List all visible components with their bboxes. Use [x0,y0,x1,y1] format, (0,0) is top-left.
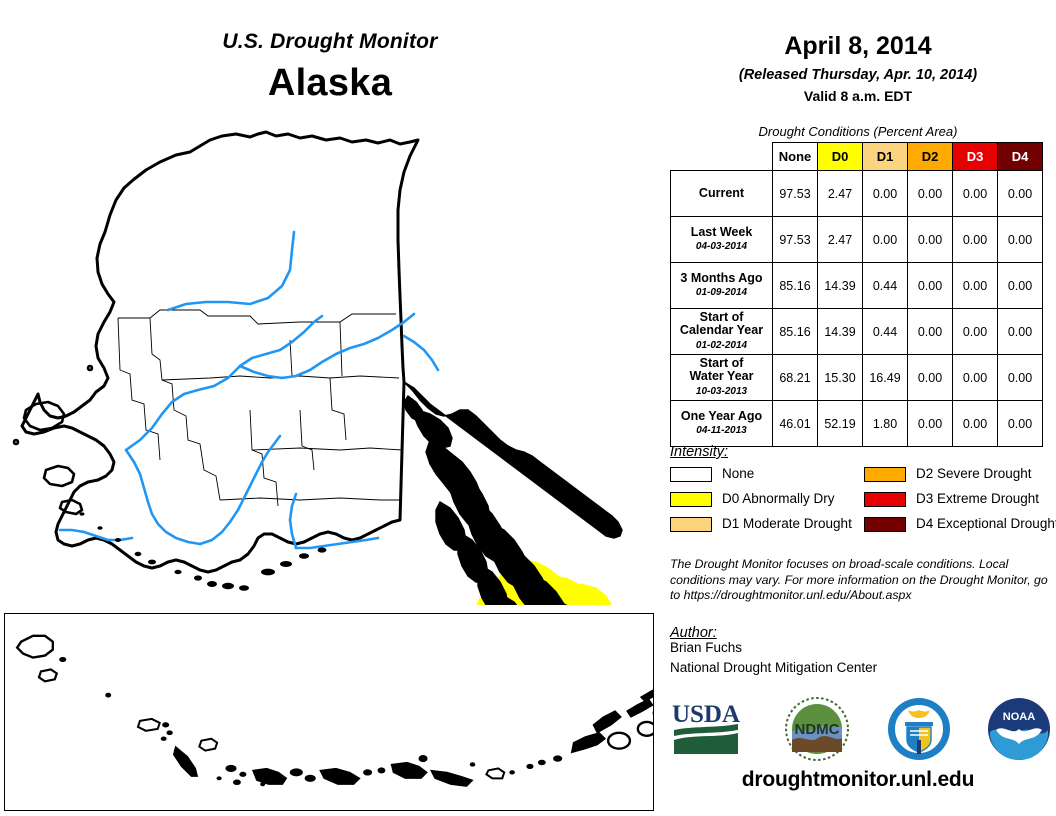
cell-d1: 0.44 [863,309,908,355]
map-subtitle: U.S. Drought Monitor [0,30,660,54]
legend-swatch [670,467,712,482]
cell-d0: 15.30 [818,355,863,401]
rivers-icon [60,232,438,548]
cell-d4: 0.00 [998,217,1043,263]
cell-none: 97.53 [773,217,818,263]
legend-item: D3 Extreme Drought [864,491,1054,508]
row-date: 04-03-2014 [671,240,772,254]
table-row: One Year Ago04-11-201346.0152.191.800.00… [671,401,1043,447]
table-header-row: None D0 D1 D2 D3 D4 [671,143,1043,171]
intensity-legend-right: D2 Severe DroughtD3 Extreme DroughtD4 Ex… [864,466,1054,526]
cell-d4: 0.00 [998,401,1043,447]
drought-conditions-table: None D0 D1 D2 D3 D4 Current97.532.470.00… [670,142,1043,447]
bering-sea-islands-icon [14,366,92,514]
legend-swatch [670,517,712,532]
legend-item: D2 Severe Drought [864,466,1054,483]
legend-label: D3 Extreme Drought [916,491,1039,506]
cell-d0: 52.19 [818,401,863,447]
noaa-logo[interactable]: NOAA [986,696,1052,767]
legend-label: D4 Exceptional Drought [916,516,1056,531]
row-date: 04-11-2013 [671,424,772,438]
row-date: 01-09-2014 [671,286,772,300]
alaska-map[interactable] [0,110,660,605]
row-label: Start ofCalendar Year01-02-2014 [671,309,773,355]
table-row: 3 Months Ago01-09-201485.1614.390.440.00… [671,263,1043,309]
cell-d3: 0.00 [953,401,998,447]
author-info: Brian Fuchs National Drought Mitigation … [670,638,1050,678]
column-header-none: None [773,143,818,171]
cell-d2: 0.00 [908,309,953,355]
cell-d1: 1.80 [863,401,908,447]
cell-d4: 0.00 [998,171,1043,217]
legend-label: None [722,466,754,481]
cell-d1: 0.00 [863,171,908,217]
noaa-logo-text: NOAA [1003,711,1035,723]
column-header-d2: D2 [908,143,953,171]
legend-swatch [864,517,906,532]
cell-d0: 2.47 [818,217,863,263]
row-date: 01-02-2014 [671,339,772,353]
column-header-d3: D3 [953,143,998,171]
cell-d0: 2.47 [818,171,863,217]
cell-d3: 0.00 [953,309,998,355]
row-label: Current [671,171,773,217]
cell-d3: 0.00 [953,355,998,401]
aleutian-inset-panel[interactable] [4,613,654,811]
author-org: National Drought Mitigation Center [670,658,1050,678]
cell-d1: 16.49 [863,355,908,401]
legend-label: D2 Severe Drought [916,466,1032,481]
usda-logo-text: USDA [672,701,740,728]
cell-d1: 0.44 [863,263,908,309]
legend-item: None [670,466,860,483]
legend-swatch [864,492,906,507]
table-row: Start ofWater Year10-03-201368.2115.3016… [671,355,1043,401]
legend-item: D0 Abnormally Dry [670,491,860,508]
row-label: Last Week04-03-2014 [671,217,773,263]
cell-d2: 0.00 [908,217,953,263]
row-label: One Year Ago04-11-2013 [671,401,773,447]
cell-none: 97.53 [773,171,818,217]
author-person: Brian Fuchs [670,638,1050,658]
release-date: (Released Thursday, Apr. 10, 2014) [660,67,1056,83]
valid-time: Valid 8 a.m. EDT [660,88,1056,104]
column-header-d1: D1 [863,143,908,171]
intensity-legend-title: Intensity: [670,444,728,460]
ndmc-logo[interactable]: NDMC [784,696,850,767]
cell-d3: 0.00 [953,263,998,309]
table-corner-cell [671,143,773,171]
cell-none: 85.16 [773,263,818,309]
report-date: April 8, 2014 [660,32,1056,61]
ndmc-logo-text: NDMC [795,721,840,738]
table-row: Last Week04-03-201497.532.470.000.000.00… [671,217,1043,263]
page-title: Alaska [0,62,660,105]
legend-swatch [864,467,906,482]
cell-d3: 0.00 [953,171,998,217]
panhandle-islands-icon [404,382,622,605]
cell-d3: 0.00 [953,217,998,263]
row-date: 10-03-2013 [671,385,772,399]
legend-item: D1 Moderate Drought [670,516,860,533]
table-row: Current97.532.470.000.000.000.00 [671,171,1043,217]
cell-d0: 14.39 [818,309,863,355]
map-panel: U.S. Drought Monitor Alaska [0,0,660,816]
cell-d2: 0.00 [908,401,953,447]
legend-label: D0 Abnormally Dry [722,491,835,506]
borough-boundaries-icon [118,310,402,506]
cell-d2: 0.00 [908,355,953,401]
column-header-d0: D0 [818,143,863,171]
cell-d2: 0.00 [908,171,953,217]
table-caption: Drought Conditions (Percent Area) [660,124,1056,139]
legend-label: D1 Moderate Drought [722,516,852,531]
cell-d4: 0.00 [998,263,1043,309]
intensity-legend-left: NoneD0 Abnormally DryD1 Moderate Drought [670,466,860,526]
cell-none: 46.01 [773,401,818,447]
usda-logo[interactable]: USDA [670,696,742,763]
aleutian-islands-map [5,614,653,810]
website-url[interactable]: droughtmonitor.unl.edu [660,768,1056,792]
cell-none: 85.16 [773,309,818,355]
table-row: Start ofCalendar Year01-02-201485.1614.3… [671,309,1043,355]
disclaimer-text: The Drought Monitor focuses on broad-sca… [670,557,1048,604]
column-header-d4: D4 [998,143,1043,171]
row-label: Start ofWater Year10-03-2013 [671,355,773,401]
us-dept-commerce-seal-logo[interactable] [886,696,952,767]
cell-d4: 0.00 [998,355,1043,401]
logos-row: USDA NDMC [664,696,1056,764]
cell-d4: 0.00 [998,309,1043,355]
cell-d2: 0.00 [908,263,953,309]
cell-d0: 14.39 [818,263,863,309]
cell-none: 68.21 [773,355,818,401]
row-label: 3 Months Ago01-09-2014 [671,263,773,309]
info-panel: April 8, 2014 (Released Thursday, Apr. 1… [660,0,1056,816]
cell-d1: 0.00 [863,217,908,263]
legend-swatch [670,492,712,507]
legend-item: D4 Exceptional Drought [864,516,1054,533]
